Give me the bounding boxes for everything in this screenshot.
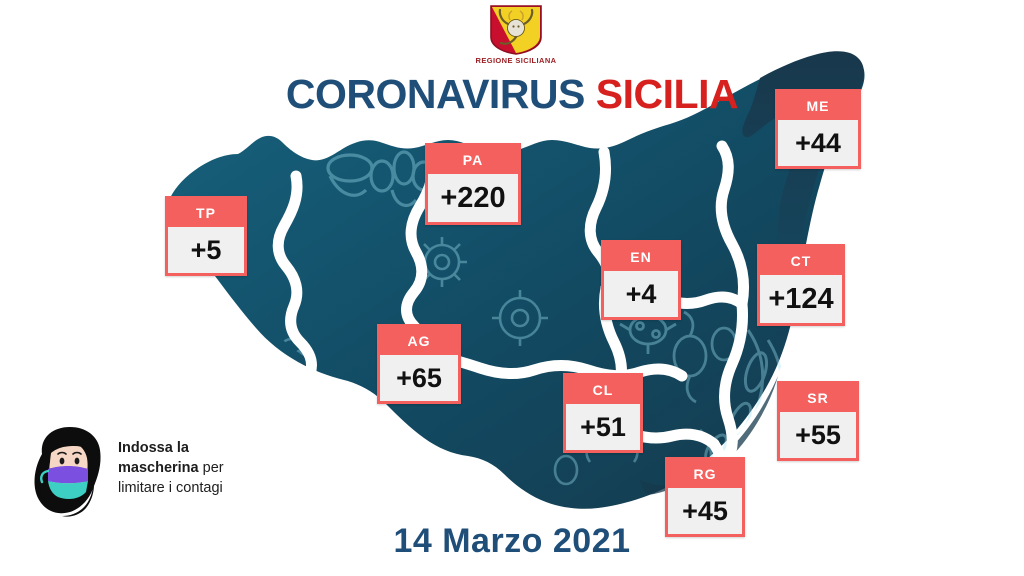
page-title: CORONAVIRUS SICILIA [0,74,1024,115]
psa-line2-bold: mascherina [118,460,199,476]
province-code-rg: RG [668,460,742,488]
woman-with-mask-icon [22,424,114,520]
province-value-me: +44 [778,120,858,166]
province-code-ag: AG [380,327,458,355]
province-code-me: ME [778,92,858,120]
province-code-en: EN [604,243,678,271]
province-code-tp: TP [168,199,244,227]
psa-text: Indossa la mascherina per limitare i con… [118,438,294,498]
psa-line1: Indossa la [118,440,189,456]
psa-line3: limitare i contagi [118,480,223,496]
province-box-ct[interactable]: CT +124 [757,244,845,326]
province-code-cl: CL [566,376,640,404]
province-value-tp: +5 [168,227,244,273]
date-label: 14 Marzo 2021 [0,522,1024,561]
province-box-cl[interactable]: CL +51 [563,373,643,453]
province-box-ag[interactable]: AG +65 [377,324,461,404]
province-value-cl: +51 [566,404,640,450]
province-box-pa[interactable]: PA +220 [425,143,521,225]
title-accent: SICILIA [596,71,738,117]
emblem-shield-icon [488,4,544,56]
emblem-caption: REGIONE SICILIANA [466,56,566,65]
regione-siciliana-emblem: REGIONE SICILIANA [488,4,544,74]
province-value-en: +4 [604,271,678,317]
province-value-sr: +55 [780,412,856,458]
province-box-sr[interactable]: SR +55 [777,381,859,461]
infographic-root: REGIONE SICILIANA CORONAVIRUS SICILIA TP… [0,0,1024,576]
province-box-me[interactable]: ME +44 [775,89,861,169]
province-value-ag: +65 [380,355,458,401]
mask-psa: Indossa la mascherina per limitare i con… [22,424,292,520]
province-code-sr: SR [780,384,856,412]
province-code-pa: PA [428,146,518,174]
province-box-tp[interactable]: TP +5 [165,196,247,276]
province-box-en[interactable]: EN +4 [601,240,681,320]
psa-line2-rest: per [199,460,224,476]
province-value-pa: +220 [428,174,518,222]
province-value-ct: +124 [760,275,842,323]
province-code-ct: CT [760,247,842,275]
title-main: CORONAVIRUS [286,71,585,117]
